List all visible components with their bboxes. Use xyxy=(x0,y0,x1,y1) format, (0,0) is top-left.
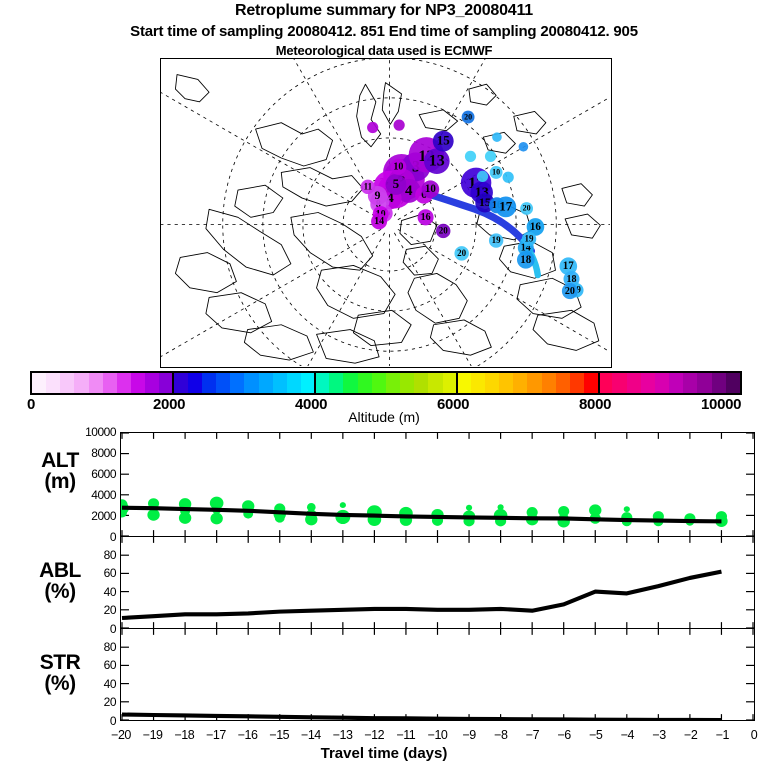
x-tick-label: −16 xyxy=(233,728,263,742)
map-marker[interactable]: 20 xyxy=(562,283,578,299)
map-marker[interactable]: 10 xyxy=(490,166,503,179)
coastline xyxy=(562,184,592,206)
x-tick-label: −7 xyxy=(517,728,547,742)
alt-plot-canvas xyxy=(121,433,754,536)
x-axis-label: Travel time (days) xyxy=(0,745,768,762)
map-marker[interactable] xyxy=(477,171,488,182)
colorbar-segment xyxy=(386,373,400,393)
coastline xyxy=(403,246,438,275)
marker-day-label: 10 xyxy=(425,183,437,195)
marker-day-label: 20 xyxy=(523,204,531,213)
str-plot-canvas xyxy=(121,629,754,720)
meridian-line xyxy=(161,229,381,356)
colorbar-segment xyxy=(74,373,88,393)
map-marker[interactable] xyxy=(485,151,496,162)
coastline xyxy=(175,253,236,293)
colorbar-segment xyxy=(372,373,386,393)
colorbar-segment xyxy=(542,373,556,393)
colorbar-divider xyxy=(598,371,600,395)
str-y-tick-label: 0 xyxy=(60,714,116,728)
colorbar-segment xyxy=(513,373,527,393)
map-marker[interactable] xyxy=(394,119,405,130)
coastline xyxy=(419,110,457,131)
colorbar-segment xyxy=(527,373,541,393)
marker-day-label: 20 xyxy=(464,112,472,121)
colorbar-segment xyxy=(46,373,60,393)
marker-day-label: 13 xyxy=(429,153,445,170)
marker-day-label: 18 xyxy=(520,254,532,266)
colorbar-segment xyxy=(60,373,74,393)
marker-day-label: 20 xyxy=(457,248,467,258)
colorbar-segment xyxy=(230,373,244,393)
x-tick-label: −9 xyxy=(454,728,484,742)
alt-y-tick-label: 0 xyxy=(38,530,116,544)
coastline xyxy=(408,273,467,323)
map-marker[interactable]: 10 xyxy=(390,159,406,175)
abl-y-tick-label: 0 xyxy=(60,622,116,636)
colorbar-segment xyxy=(358,373,372,393)
marker-day-label: 16 xyxy=(421,212,431,223)
map-marker[interactable]: 16 xyxy=(418,209,434,225)
colorbar-segment xyxy=(400,373,414,393)
str-y-tick-label: 20 xyxy=(60,695,116,709)
colorbar-segment xyxy=(556,373,570,393)
marker-day-label: 19 xyxy=(492,235,502,245)
abl-y-tick-label: 60 xyxy=(60,566,116,580)
marker-disc xyxy=(485,151,496,162)
x-tick-label: −4 xyxy=(612,728,642,742)
map-marker[interactable]: 15 xyxy=(433,131,454,152)
coastline xyxy=(206,209,291,275)
str-y-tick-label: 60 xyxy=(60,658,116,672)
marker-disc xyxy=(519,142,529,152)
abl-y-tick-label: 80 xyxy=(60,548,116,562)
colorbar-segment xyxy=(273,373,287,393)
colorbar-segment xyxy=(131,373,145,393)
colorbar-segment xyxy=(499,373,513,393)
x-tick-label: −8 xyxy=(486,728,516,742)
marker-disc xyxy=(465,151,476,162)
colorbar-segment xyxy=(598,373,612,393)
alt-scatter-point xyxy=(179,512,191,524)
colorbar-segment xyxy=(89,373,103,393)
marker-day-label: 14 xyxy=(374,216,384,227)
marker-day-label: 18 xyxy=(567,274,577,285)
colorbar-divider xyxy=(172,371,174,395)
colorbar-segment xyxy=(343,373,357,393)
colorbar-axis-label: Altitude (m) xyxy=(0,409,768,425)
coastline xyxy=(430,320,491,355)
map-canvas: 1122334456678910101010111212131314141515… xyxy=(161,59,610,366)
map-marker[interactable]: 5 xyxy=(386,174,407,195)
marker-day-label: 17 xyxy=(499,198,513,213)
alt-y-tick-label: 6000 xyxy=(38,467,116,481)
colorbar-segment xyxy=(145,373,159,393)
marker-day-label: 17 xyxy=(563,260,575,272)
x-tick-label: −1 xyxy=(707,728,737,742)
alt-scatter-point xyxy=(466,505,472,511)
coastline xyxy=(256,123,333,166)
colorbar-segment xyxy=(457,373,471,393)
colorbar-segment xyxy=(301,373,315,393)
colorbar-segment xyxy=(485,373,499,393)
colorbar-segment xyxy=(570,373,584,393)
colorbar-segment xyxy=(287,373,301,393)
colorbar-segment xyxy=(655,373,669,393)
colorbar-segment xyxy=(188,373,202,393)
map-marker[interactable]: 18 xyxy=(517,251,535,269)
page-title: Retroplume summary for NP3_20080411 xyxy=(0,2,768,20)
map-marker[interactable] xyxy=(492,132,502,142)
marker-day-label: 20 xyxy=(439,225,449,235)
colorbar-segment xyxy=(443,373,457,393)
coastline xyxy=(382,83,401,125)
marker-day-label: 9 xyxy=(374,188,380,202)
x-tick-label: −15 xyxy=(264,728,294,742)
altitude-colorbar[interactable] xyxy=(30,371,742,395)
colorbar-segment xyxy=(471,373,485,393)
x-tick-label: −5 xyxy=(581,728,611,742)
coastline xyxy=(514,111,546,133)
colorbar-segment xyxy=(428,373,442,393)
x-tick-label: −12 xyxy=(359,728,389,742)
meridian-line xyxy=(161,92,381,219)
coastline xyxy=(357,84,381,147)
colorbar-segment xyxy=(329,373,343,393)
marker-day-label: 15 xyxy=(437,133,451,148)
marker-day-label: 20 xyxy=(565,286,575,297)
str-y-tick-label: 80 xyxy=(60,640,116,654)
map-marker[interactable]: 20 xyxy=(520,202,533,215)
colorbar-segment xyxy=(259,373,273,393)
alt-scatter-point xyxy=(210,513,222,525)
abl-y-tick-label: 20 xyxy=(60,603,116,617)
abl-plot-canvas xyxy=(121,537,754,628)
colorbar-segment xyxy=(244,373,258,393)
colorbar-segment xyxy=(103,373,117,393)
coastline xyxy=(353,310,411,345)
sampling-time-subtitle: Start time of sampling 20080412. 851 End… xyxy=(0,23,768,40)
map-marker[interactable]: 20 xyxy=(462,111,475,124)
retroplume-map[interactable]: 1122334456678910101010111212131314141515… xyxy=(160,58,612,368)
map-marker[interactable]: 19 xyxy=(489,233,503,247)
colorbar-segment xyxy=(627,373,641,393)
colorbar-segment xyxy=(712,373,726,393)
coastline xyxy=(244,325,313,360)
map-marker[interactable] xyxy=(465,151,476,162)
colorbar-segment xyxy=(612,373,626,393)
coastline xyxy=(281,168,363,206)
map-marker[interactable]: 20 xyxy=(436,224,450,238)
x-tick-label: −11 xyxy=(391,728,421,742)
x-tick-label: −18 xyxy=(169,728,199,742)
alt-y-tick-label: 4000 xyxy=(38,488,116,502)
map-marker[interactable] xyxy=(503,172,514,183)
marker-disc xyxy=(367,122,378,133)
str-line xyxy=(122,715,721,720)
x-tick-label: 0 xyxy=(739,728,768,742)
coastline xyxy=(469,84,496,105)
alt-scatter-point xyxy=(147,509,159,521)
alt-y-tick-label: 10000 xyxy=(38,425,116,439)
met-data-subtitle: Meteorological data used is ECMWF xyxy=(0,43,768,58)
x-tick-label: −13 xyxy=(328,728,358,742)
coastline xyxy=(565,214,600,238)
marker-disc xyxy=(477,171,488,182)
colorbar-segment xyxy=(202,373,216,393)
colorbar-segment xyxy=(683,373,697,393)
colorbar-segment xyxy=(315,373,329,393)
map-marker[interactable]: 13 xyxy=(424,148,450,174)
x-tick-label: −3 xyxy=(644,728,674,742)
str-panel[interactable] xyxy=(120,628,755,721)
map-marker[interactable]: 11 xyxy=(361,180,375,194)
marker-disc xyxy=(503,172,514,183)
alt-scatter-point xyxy=(275,513,285,522)
marker-disc xyxy=(492,132,502,142)
map-marker[interactable]: 19 xyxy=(522,232,536,246)
colorbar-segment xyxy=(216,373,230,393)
colorbar-segment xyxy=(641,373,655,393)
coastline xyxy=(175,75,209,102)
colorbar-segment xyxy=(174,373,188,393)
abl-line xyxy=(122,572,721,618)
x-tick-label: −17 xyxy=(201,728,231,742)
alt-scatter-point xyxy=(624,506,630,512)
alt-scatter-point xyxy=(340,502,346,508)
alt-panel[interactable] xyxy=(120,432,755,537)
colorbar-segment xyxy=(32,373,46,393)
marker-disc xyxy=(394,119,405,130)
marker-day-label: 10 xyxy=(393,162,403,173)
colorbar-segment xyxy=(669,373,683,393)
colorbar-segment xyxy=(584,373,598,393)
marker-day-label: 19 xyxy=(525,233,535,243)
map-marker[interactable]: 10 xyxy=(422,180,440,198)
colorbar-segment xyxy=(697,373,711,393)
coastline xyxy=(235,185,283,217)
colorbar-segment xyxy=(726,373,740,393)
coastline xyxy=(317,265,396,318)
x-tick-label: −19 xyxy=(138,728,168,742)
marker-day-label: 5 xyxy=(393,176,400,191)
abl-panel[interactable] xyxy=(120,536,755,629)
marker-day-label: 16 xyxy=(530,221,542,233)
x-tick-label: −14 xyxy=(296,728,326,742)
x-tick-label: −20 xyxy=(106,728,136,742)
marker-day-label: 10 xyxy=(492,168,500,177)
colorbar-segment xyxy=(414,373,428,393)
x-tick-label: −6 xyxy=(549,728,579,742)
str-y-tick-label: 40 xyxy=(60,677,116,691)
marker-day-label: 15 xyxy=(479,195,491,209)
map-marker[interactable] xyxy=(367,122,378,133)
x-tick-label: −10 xyxy=(423,728,453,742)
abl-y-tick-label: 40 xyxy=(60,585,116,599)
alt-y-tick-label: 2000 xyxy=(38,509,116,523)
colorbar-divider xyxy=(456,371,458,395)
colorbar-divider xyxy=(314,371,316,395)
map-marker[interactable] xyxy=(519,142,529,152)
alt-y-tick-label: 8000 xyxy=(38,446,116,460)
map-marker[interactable]: 20 xyxy=(454,246,468,260)
x-tick-label: −2 xyxy=(676,728,706,742)
colorbar-segment xyxy=(117,373,131,393)
map-marker[interactable]: 17 xyxy=(495,196,516,217)
marker-day-label: 11 xyxy=(364,181,373,191)
map-marker[interactable]: 14 xyxy=(371,213,387,229)
